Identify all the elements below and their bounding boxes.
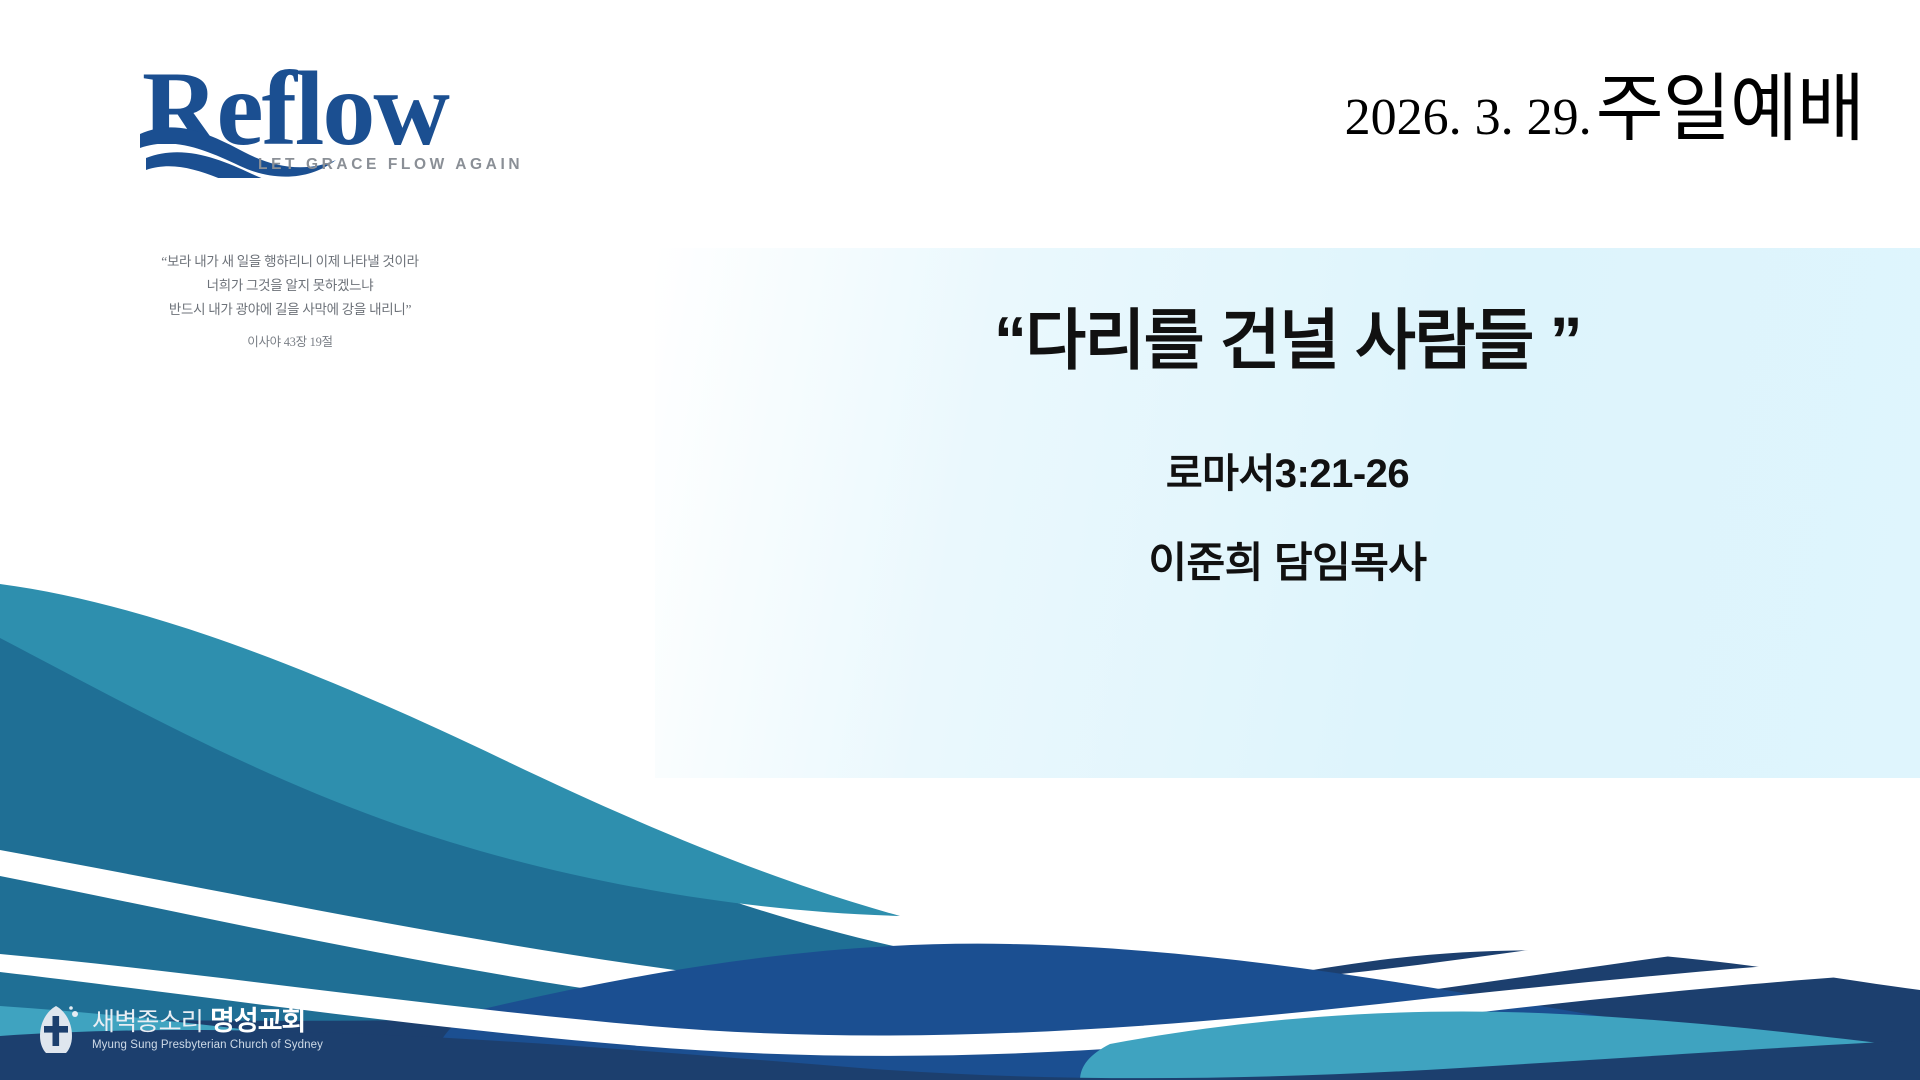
svg-text:Reflow: Reflow (142, 50, 449, 167)
worship-slide: Reflow LET GRACE FLOW AGAIN “보라 내가 새 일을 … (0, 0, 1920, 1080)
service-name: 주일예배 (1596, 72, 1864, 146)
church-subtitle-ko: 새벽종소리 (92, 1009, 203, 1035)
sermon-scripture-reference: 로마서3:21-26 (655, 379, 1920, 499)
church-name-group: 새벽종소리 명성교회 Myung Sung Presbyterian Churc… (92, 1007, 323, 1050)
scripture-verse-block: “보라 내가 새 일을 행하리니 이제 나타낼 것이라 너희가 그것을 알지 못… (130, 250, 450, 354)
church-name-ko: 명성교회 (210, 1007, 305, 1035)
sermon-info-inner: “다리를 건널 사람들 ” 로마서3:21-26 이준희 담임목사 (655, 248, 1920, 590)
verse-line-3: 반드시 내가 광야에 길을 사막에 강을 내리니” (130, 298, 450, 322)
reflow-tagline: LET GRACE FLOW AGAIN (258, 156, 523, 174)
sermon-info-panel: “다리를 건널 사람들 ” 로마서3:21-26 이준희 담임목사 (655, 248, 1920, 778)
reflow-logo-block: Reflow LET GRACE FLOW AGAIN (140, 48, 560, 178)
sermon-title: “다리를 건널 사람들 ” (655, 248, 1920, 379)
reflow-logo-mark: Reflow LET GRACE FLOW AGAIN (140, 48, 540, 178)
cross-bell-icon (34, 1002, 80, 1056)
church-footer-logo: 새벽종소리 명성교회 Myung Sung Presbyterian Churc… (34, 1002, 323, 1056)
wave-navy-mid (430, 944, 1920, 1080)
sparkle-dot-2 (69, 1006, 73, 1010)
verse-line-1: “보라 내가 새 일을 행하리니 이제 나타낼 것이라 (130, 250, 450, 274)
cross-horizontal (44, 1026, 68, 1033)
verse-line-2: 너희가 그것을 알지 못하겠느냐 (130, 274, 450, 298)
header-date-service: 2026. 3. 29. 주일예배 (1345, 72, 1864, 147)
church-name-row: 새벽종소리 명성교회 (92, 1007, 323, 1035)
verse-reference: 이사야 43장 19절 (130, 330, 450, 354)
wave-teal-right (1080, 1012, 1920, 1080)
sparkle-dot-1 (72, 1011, 78, 1017)
service-date: 2026. 3. 29. (1345, 88, 1592, 147)
wave-white-sweep-1 (0, 850, 1920, 1023)
church-name-en: Myung Sung Presbyterian Church of Sydney (92, 1039, 323, 1051)
sermon-preacher: 이준희 담임목사 (655, 499, 1920, 590)
